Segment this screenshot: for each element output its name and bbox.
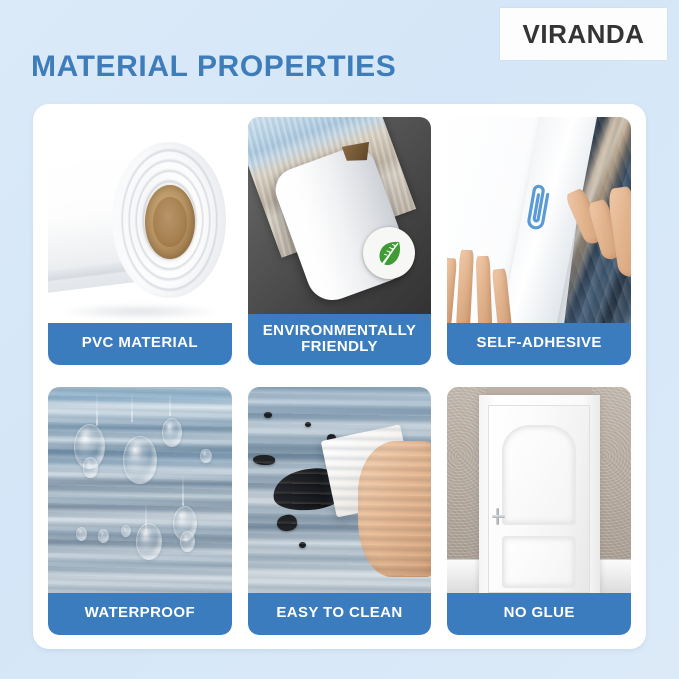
right-hand [569,183,631,290]
features-panel: PVC MATERIAL [33,104,646,649]
door-slab [488,405,590,593]
water-trail [96,391,98,426]
feature-card-pvc-material[interactable]: PVC MATERIAL [48,117,232,365]
water-droplet [173,506,197,541]
water-droplet [76,527,87,541]
stain-spot [276,513,299,533]
water-trail [131,393,133,422]
feature-card-waterproof[interactable]: WATERPROOF [48,387,232,635]
features-grid: PVC MATERIAL [48,117,631,635]
brand-badge: VIRANDA [500,8,667,60]
environmentally-friendly-image [248,117,432,314]
water-droplet [200,449,211,463]
feature-label-pvc-material: PVC MATERIAL [48,323,232,365]
water-droplet [98,529,109,543]
pvc-core-inner [153,197,187,247]
stain-spot [305,422,311,427]
door-frame [479,395,600,593]
cleaning-cloth [321,425,416,518]
waterproof-image [48,387,232,593]
water-droplet [162,418,182,447]
water-droplet [123,436,156,483]
eco-wallpaper-photo [248,117,432,314]
feature-card-no-glue[interactable]: NO GLUE [447,387,631,635]
water-trail [169,391,171,416]
feature-label-no-glue: NO GLUE [447,593,631,635]
water-droplet [136,523,162,560]
door-panel-bottom [502,536,576,588]
pvc-drop-shadow [59,304,221,318]
feature-label-waterproof: WATERPROOF [48,593,232,635]
no-glue-image [447,387,631,593]
stain-spot [264,412,271,419]
water-trail [145,502,147,531]
water-droplet [83,457,98,478]
feature-card-environmentally-friendly[interactable]: ENVIRONMENTALLY FRIENDLY [248,117,432,365]
handle-lever [492,515,505,519]
water-droplet [180,531,195,552]
easy-to-clean-image [248,387,432,593]
water-trail [182,474,184,507]
eco-roll-body [270,141,415,307]
left-hand [447,241,520,323]
pvc-material-image [48,117,232,323]
page-title: MATERIAL PROPERTIES [31,50,396,84]
leaf-icon [363,227,415,279]
water-droplet [121,525,130,537]
feature-card-easy-to-clean[interactable]: EASY TO CLEAN [248,387,432,635]
no-glue-photo [447,387,631,593]
door-handle [492,508,505,525]
stain-spot [253,455,275,465]
self-adhesive-photo [447,117,631,323]
stain-spot [299,542,306,549]
pvc-roll-photo [48,117,232,323]
infographic-page: VIRANDA MATERIAL PROPERTIES [0,0,679,679]
self-adhesive-image [447,117,631,323]
stain-spot [327,434,336,442]
large-stain [271,465,349,515]
waterproof-photo [48,387,232,593]
water-droplet [74,424,105,469]
feature-card-self-adhesive[interactable]: SELF-ADHESIVE [447,117,631,365]
easy-to-clean-photo [248,387,432,593]
pvc-cardboard-core [145,185,195,259]
feature-label-environmentally-friendly: ENVIRONMENTALLY FRIENDLY [248,314,432,365]
feature-label-easy-to-clean: EASY TO CLEAN [248,593,432,635]
door-panel-top [502,425,576,525]
feature-label-self-adhesive: SELF-ADHESIVE [447,323,631,365]
brand-name: VIRANDA [523,19,645,50]
hand-holding-cloth [358,441,431,577]
